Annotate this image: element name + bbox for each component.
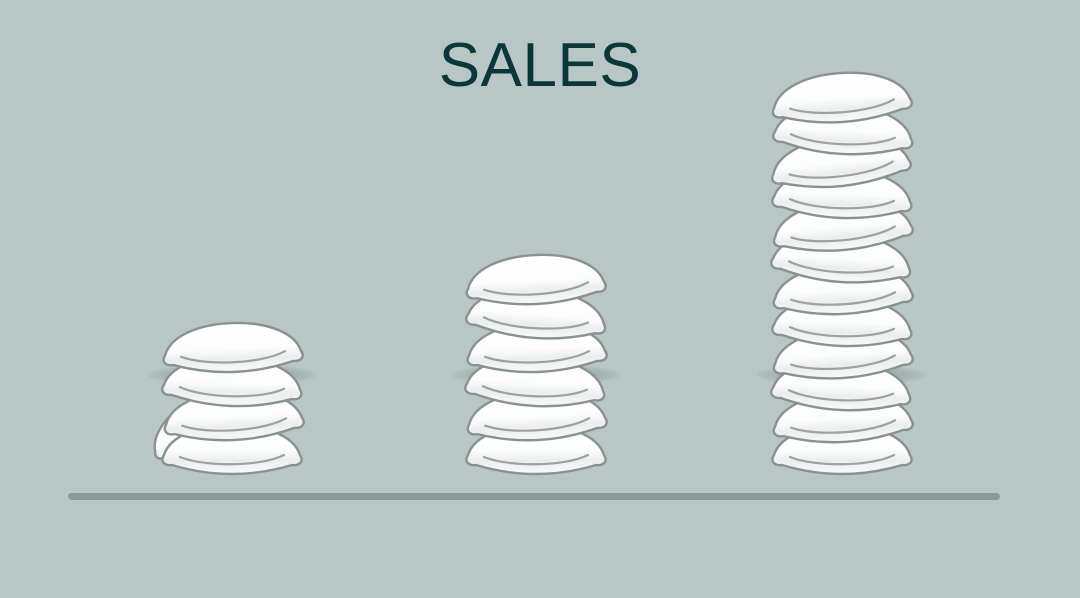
pillow-icon	[162, 321, 303, 375]
pillow-stack-aplus	[386, 70, 686, 490]
pillow-stack-standard	[82, 70, 382, 490]
pillow-stack-premium	[692, 70, 992, 490]
sales-pictogram-chart: SALES	[0, 0, 1080, 598]
pillow-icon	[465, 251, 607, 307]
baseline-axis	[68, 493, 1000, 500]
